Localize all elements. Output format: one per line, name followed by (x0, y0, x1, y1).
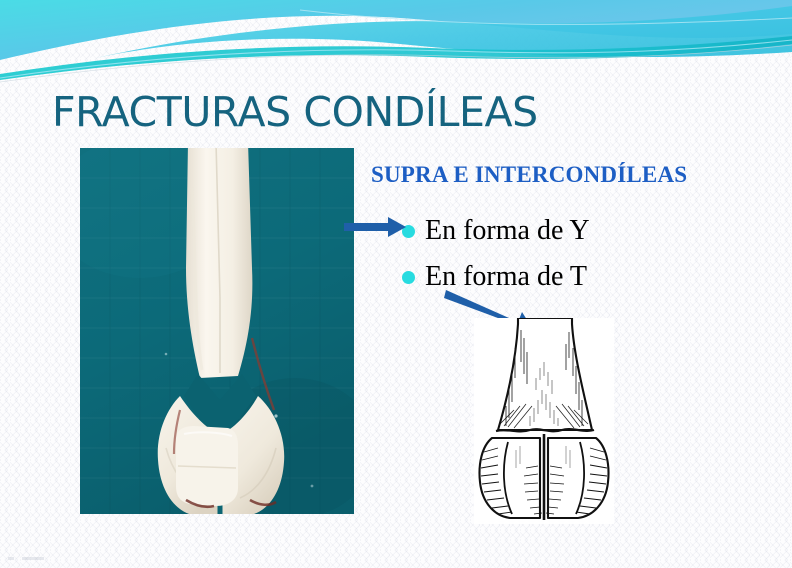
bullet-label: En forma de T (425, 263, 587, 291)
wave-band-middle (96, 6, 792, 58)
bullet-label: En forma de Y (425, 217, 590, 245)
section-subtitle: SUPRA E INTERCONDÍLEAS (371, 162, 687, 188)
slide-canvas: FRACTURAS CONDÍLEAS (0, 0, 792, 568)
corner-mark-dash-large (22, 557, 44, 560)
wave-hairline-3 (300, 10, 792, 24)
femur-line-drawing (474, 318, 614, 524)
decorative-wave-banner (0, 0, 792, 86)
wave-band-upper (0, 0, 792, 60)
page-title: FRACTURAS CONDÍLEAS (52, 88, 538, 136)
bullet-list: En forma de Y En forma de T (402, 208, 702, 300)
wave-banner-graphic (0, 0, 792, 86)
wave-hairline-2 (0, 45, 792, 82)
corner-mark-dash-small (8, 557, 14, 560)
wave-ribbon-teal (0, 36, 792, 80)
femur-line-drawing-graphic (474, 318, 614, 524)
fracture-photo (80, 148, 354, 514)
list-item: En forma de Y (402, 208, 702, 254)
wave-hairline-1 (0, 40, 792, 78)
bullet-dot-icon (402, 271, 415, 284)
arrow-right-icon (344, 215, 408, 239)
corner-mark (8, 556, 48, 562)
fracture-photo-graphic (80, 148, 354, 514)
